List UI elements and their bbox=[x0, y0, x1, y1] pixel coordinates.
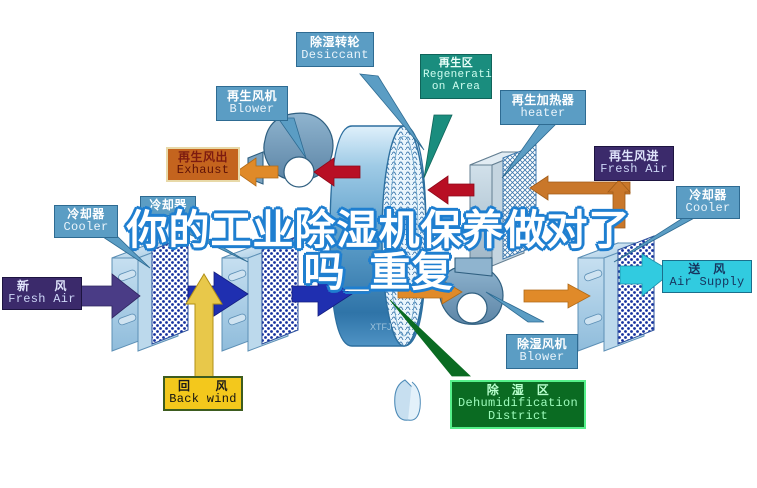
diagram-graphics: XTFJ bbox=[0, 0, 757, 488]
label-regeneration-fresh-air[interactable]: 再生风进 Fresh Air bbox=[594, 146, 674, 181]
label-air-supply-cn: 送 风 bbox=[665, 263, 749, 276]
dehumidifier-diagram: XTFJ bbox=[0, 0, 757, 488]
label-regeneration-blower-cn: 再生风机 bbox=[219, 90, 285, 103]
label-cooler-left-en: Cooler bbox=[57, 221, 115, 234]
label-cooler-right-cn: 冷却器 bbox=[679, 189, 737, 202]
label-regeneration-fresh-air-en: Fresh Air bbox=[597, 163, 671, 176]
label-cooler-left-cn: 冷却器 bbox=[57, 208, 115, 221]
label-regeneration-area[interactable]: 再生区 Regenerati on Area bbox=[420, 54, 492, 99]
label-air-supply[interactable]: 送 风 Air Supply bbox=[662, 260, 752, 293]
label-dehumidification-district-en2: District bbox=[454, 410, 582, 423]
label-cooler-left[interactable]: 冷却器 Cooler bbox=[54, 205, 118, 238]
label-regeneration-fresh-air-cn: 再生风进 bbox=[597, 150, 671, 163]
label-fresh-air[interactable]: 新 风 Fresh Air bbox=[2, 277, 82, 310]
label-desiccant-wheel-cn: 除湿转轮 bbox=[299, 36, 371, 49]
label-cooler-middle[interactable]: 冷却器 bbox=[140, 196, 196, 216]
label-regeneration-blower[interactable]: 再生风机 Blower bbox=[216, 86, 288, 121]
label-desiccant-wheel[interactable]: 除湿转轮 Desiccant bbox=[296, 32, 374, 67]
label-regeneration-heater-en: heater bbox=[503, 107, 583, 120]
label-cooler-right[interactable]: 冷却器 Cooler bbox=[676, 186, 740, 219]
label-regeneration-exhaust[interactable]: 再生风出 Exhaust bbox=[166, 147, 240, 182]
label-desiccant-wheel-en: Desiccant bbox=[299, 49, 371, 62]
label-regeneration-exhaust-en: Exhaust bbox=[170, 164, 236, 177]
label-dehumidification-blower-cn: 除湿风机 bbox=[509, 338, 575, 351]
label-fresh-air-cn: 新 风 bbox=[5, 280, 79, 293]
label-dehumidification-district-cn: 除 湿 区 bbox=[454, 384, 582, 397]
label-regeneration-area-en1: Regenerati bbox=[423, 70, 489, 82]
label-back-wind[interactable]: 回 风 Back wind bbox=[163, 376, 243, 411]
label-dehumidification-district-en1: Dehumidification bbox=[454, 397, 582, 410]
svg-text:XTFJ: XTFJ bbox=[370, 322, 392, 332]
label-regeneration-heater[interactable]: 再生加热器 heater bbox=[500, 90, 586, 125]
label-regeneration-heater-cn: 再生加热器 bbox=[503, 94, 583, 107]
label-back-wind-cn: 回 风 bbox=[167, 380, 239, 393]
label-cooler-middle-cn: 冷却器 bbox=[143, 199, 193, 212]
label-back-wind-en: Back wind bbox=[167, 393, 239, 406]
label-fresh-air-en: Fresh Air bbox=[5, 293, 79, 306]
label-regeneration-blower-en: Blower bbox=[219, 103, 285, 116]
label-dehumidification-blower[interactable]: 除湿风机 Blower bbox=[506, 334, 578, 369]
label-dehumidification-district[interactable]: 除 湿 区 Dehumidification District bbox=[450, 380, 586, 429]
label-regeneration-exhaust-cn: 再生风出 bbox=[170, 151, 236, 164]
regeneration-heater bbox=[470, 145, 536, 266]
label-cooler-right-en: Cooler bbox=[679, 202, 737, 215]
label-dehumidification-blower-en: Blower bbox=[509, 351, 575, 364]
label-regeneration-area-en2: on Area bbox=[423, 82, 489, 94]
arrow-left-red-heater bbox=[428, 176, 474, 204]
label-air-supply-en: Air Supply bbox=[665, 276, 749, 289]
